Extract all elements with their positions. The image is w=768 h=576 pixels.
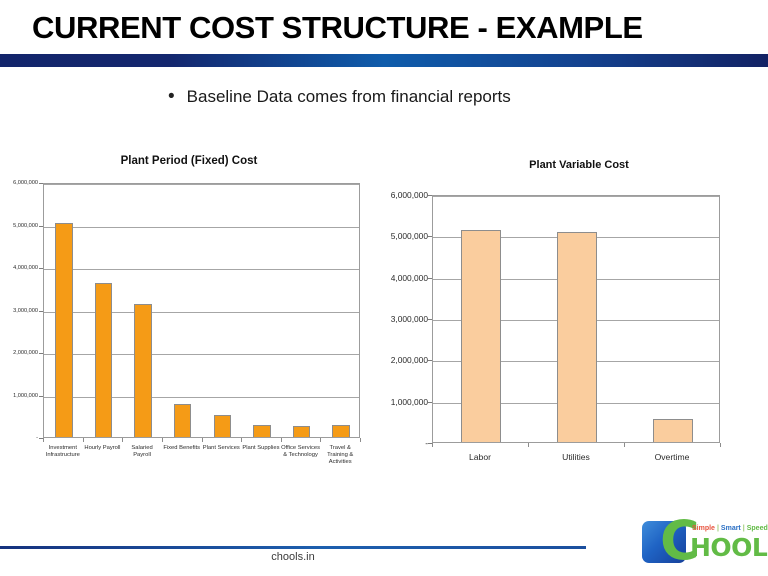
x-axis-category-label: Hourly Payroll — [83, 445, 123, 452]
chart-gridline — [44, 227, 359, 228]
chart-bar — [653, 419, 693, 442]
y-axis-tick-label: 6,000,000 — [0, 180, 38, 186]
y-axis-tick-mark — [428, 195, 432, 196]
x-axis-tick-mark — [202, 438, 203, 442]
chart-bar — [95, 283, 112, 437]
chart-gridline — [44, 354, 359, 355]
y-axis-tick-label: 3,000,000 — [390, 314, 428, 324]
chart-gridline — [44, 312, 359, 313]
y-axis-tick-mark — [39, 311, 43, 312]
y-axis-tick-label: 3,000,000 — [0, 308, 38, 314]
chart-gridline — [433, 196, 719, 197]
chart-bar — [461, 230, 501, 442]
y-axis-tick-label: 5,000,000 — [0, 223, 38, 229]
chart-bar — [134, 304, 151, 437]
chart-gridline — [44, 269, 359, 270]
chart-bar — [174, 404, 191, 437]
y-axis-tick-label: - — [0, 435, 38, 441]
slide-canvas: CURRENT COST STRUCTURE - EXAMPLE • Basel… — [0, 0, 768, 576]
y-axis-tick-mark — [428, 278, 432, 279]
chart-plot-area — [43, 183, 360, 438]
x-axis-category-label: Salaried Payroll — [122, 445, 162, 459]
page-title: CURRENT COST STRUCTURE - EXAMPLE — [32, 10, 643, 46]
y-axis-tick-label: 1,000,000 — [390, 397, 428, 407]
chart-plant-period-fixed-cost: Plant Period (Fixed) Cost 6,000,0005,000… — [0, 155, 378, 490]
x-axis-category-label: Investment Infrastructure — [43, 445, 83, 459]
y-axis-tick-mark — [39, 268, 43, 269]
x-axis-tick-mark — [320, 438, 321, 442]
logo-tagline-sep-2: | — [743, 525, 745, 532]
chart-gridline — [44, 397, 359, 398]
footer-divider — [0, 546, 586, 549]
y-axis-tick-label: 1,000,000 — [0, 393, 38, 399]
y-axis-tick-mark — [39, 396, 43, 397]
x-axis-category-label: Overtime — [624, 452, 720, 462]
chart-bar — [214, 415, 231, 437]
y-axis-tick-label: 4,000,000 — [0, 265, 38, 271]
x-axis-category-label: Fixed Benefits — [162, 445, 202, 452]
logo-tagline: Simple|Smart|Speed — [692, 525, 768, 532]
x-axis-category-label: Plant Supplies — [241, 445, 281, 452]
y-axis-tick-mark — [428, 319, 432, 320]
chart-title: Plant Period (Fixed) Cost — [0, 155, 378, 167]
x-axis-tick-mark — [281, 438, 282, 442]
x-axis-tick-mark — [624, 443, 625, 447]
logo-tagline-sep-1: | — [717, 525, 719, 532]
logo-tagline-word-2: Smart — [721, 525, 741, 532]
x-axis-tick-mark — [241, 438, 242, 442]
x-axis-tick-mark — [720, 443, 721, 447]
y-axis-tick-mark — [39, 353, 43, 354]
y-axis-tick-label: 5,000,000 — [390, 231, 428, 241]
chart-bar — [332, 425, 349, 437]
y-axis-tick-mark — [428, 402, 432, 403]
chart-bar — [55, 223, 72, 437]
bullet-list-item: • Baseline Data comes from financial rep… — [168, 86, 511, 108]
bullet-marker-icon: • — [168, 86, 175, 108]
x-axis-tick-mark — [360, 438, 361, 442]
x-axis-category-label: Utilities — [528, 452, 624, 462]
chools-logo: C Simple|Smart|Speed HOOLS — [640, 516, 762, 568]
y-axis-tick-label: 4,000,000 — [390, 273, 428, 283]
x-axis-tick-mark — [162, 438, 163, 442]
x-axis-tick-mark — [83, 438, 84, 442]
y-axis-tick-label: 6,000,000 — [390, 190, 428, 200]
y-axis-tick-mark — [428, 360, 432, 361]
logo-wordmark: HOOLS — [690, 533, 768, 562]
chart-plant-variable-cost: Plant Variable Cost 6,000,0005,000,0004,… — [390, 155, 768, 490]
y-axis-tick-mark — [39, 183, 43, 184]
x-axis-tick-mark — [528, 443, 529, 447]
logo-tagline-word-3: Speed — [747, 525, 768, 532]
bullet-item-text: Baseline Data comes from financial repor… — [187, 86, 511, 108]
x-axis-category-label: Plant Services — [202, 445, 242, 452]
chart-plot-area — [432, 195, 720, 443]
y-axis-tick-label: 2,000,000 — [0, 350, 38, 356]
chart-bar — [253, 425, 270, 437]
x-axis-category-label: Office Services & Technology — [281, 445, 321, 459]
x-axis-tick-mark — [122, 438, 123, 442]
chart-title: Plant Variable Cost — [390, 159, 768, 171]
chart-gridline — [44, 184, 359, 185]
y-axis-tick-mark — [39, 226, 43, 227]
footer-site-label: chools.in — [0, 551, 586, 563]
x-axis-category-label: Travel & Training & Activities — [320, 445, 360, 465]
x-axis-tick-mark — [43, 438, 44, 442]
logo-tagline-word-1: Simple — [692, 525, 715, 532]
chart-bar — [557, 232, 597, 442]
y-axis-tick-label: - — [390, 438, 428, 448]
x-axis-tick-mark — [432, 443, 433, 447]
y-axis-tick-mark — [428, 236, 432, 237]
y-axis-tick-label: 2,000,000 — [390, 355, 428, 365]
title-divider-bar — [0, 54, 768, 67]
chart-bar — [293, 426, 310, 437]
x-axis-category-label: Labor — [432, 452, 528, 462]
